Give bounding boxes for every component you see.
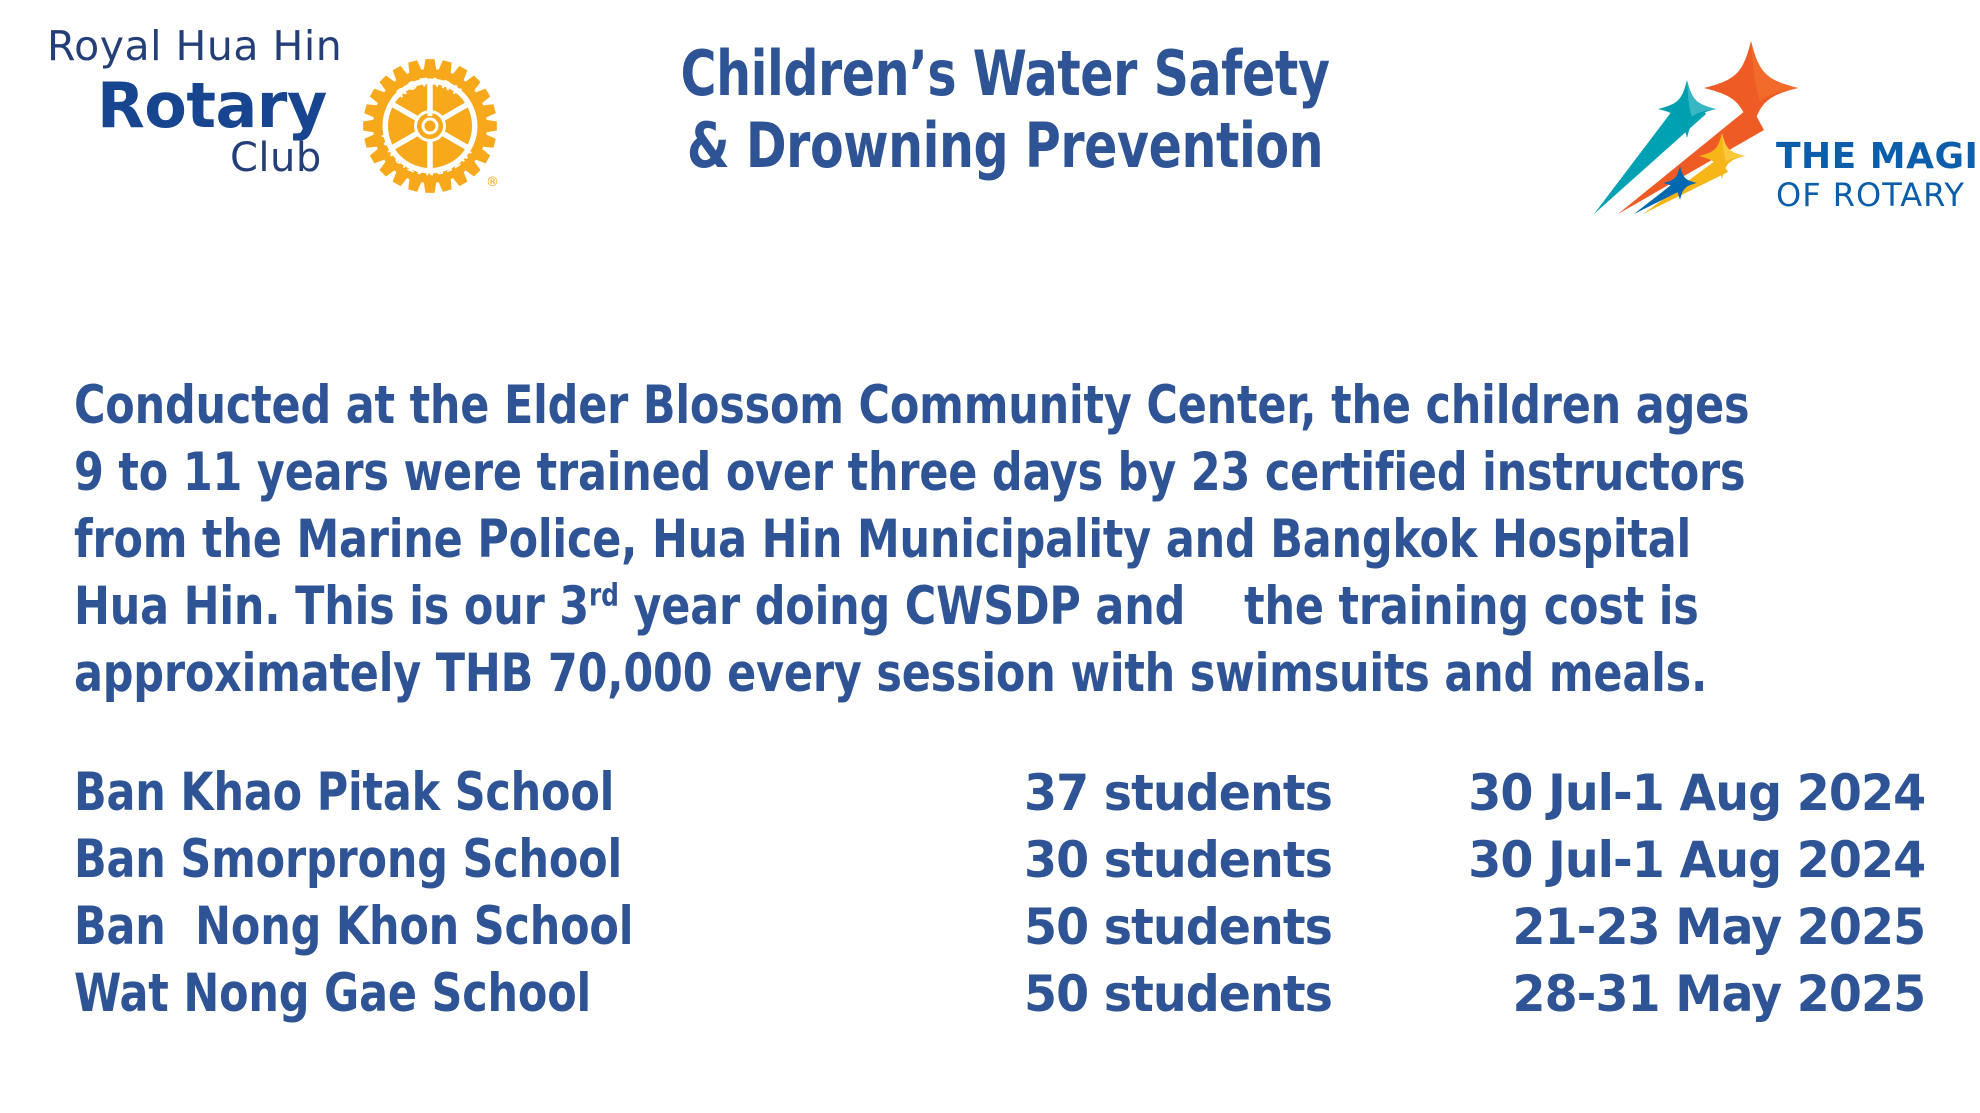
ordinal-suffix-rd: rd (589, 577, 619, 613)
session-dates: 30 Jul-1 Aug 2024 (1449, 831, 1929, 889)
school-sessions-table: Ban Khao Pitak School 37 students 30 Jul… (74, 762, 1929, 1030)
student-count: 50 students (1024, 965, 1404, 1023)
school-name: Wat Nong Gae School (74, 963, 929, 1024)
description-paragraph: Conducted at the Elder Blossom Community… (74, 372, 1934, 707)
student-count: 50 students (1024, 898, 1404, 956)
paragraph-line-4-a: Hua Hin. This is our 3 (74, 576, 589, 637)
paragraph-line-2: 9 to 11 years were trained over three da… (74, 439, 1748, 506)
table-row: Wat Nong Gae School 50 students 28-31 Ma… (74, 963, 1929, 1030)
slide-header: Royal Hua Hin Rotary Club (0, 0, 1980, 230)
page-title: Children’s Water Safety & Drowning Preve… (430, 38, 1580, 182)
magic-logo-line-2: OF ROTARY (1776, 176, 1965, 214)
school-name: Ban Smorprong School (74, 829, 929, 890)
title-line-2: & Drowning Prevention (499, 110, 1511, 182)
title-line-1: Children’s Water Safety (499, 38, 1511, 110)
session-dates: 21-23 May 2025 (1449, 898, 1929, 956)
club-logo-line-club: Club (230, 135, 322, 181)
table-row: Ban Nong Khon School 50 students 21-23 M… (74, 896, 1929, 963)
school-name: Ban Khao Pitak School (74, 762, 929, 823)
royal-hua-hin-rotary-club-logo: Royal Hua Hin Rotary Club (45, 22, 465, 182)
student-count: 37 students (1024, 764, 1404, 822)
session-dates: 30 Jul-1 Aug 2024 (1449, 764, 1929, 822)
student-count: 30 students (1024, 831, 1404, 889)
table-row: Ban Khao Pitak School 37 students 30 Jul… (74, 762, 1929, 829)
slide-canvas: Royal Hua Hin Rotary Club (0, 0, 1980, 1113)
magic-of-rotary-stars-icon: THE MAGIC OF ROTARY (1588, 18, 1978, 218)
school-name: Ban Nong Khon School (74, 896, 929, 957)
paragraph-line-5: approximately THB 70,000 every session w… (74, 640, 1748, 707)
club-logo-line-royal-hua-hin: Royal Hua Hin (47, 22, 342, 70)
paragraph-line-4-b: year doing CWSDP and the training cost i… (619, 576, 1699, 637)
session-dates: 28-31 May 2025 (1449, 965, 1929, 1023)
the-magic-of-rotary-logo: THE MAGIC OF ROTARY (1588, 18, 1978, 218)
table-row: Ban Smorprong School 30 students 30 Jul-… (74, 829, 1929, 896)
magic-logo-line-1: THE MAGIC (1776, 136, 1978, 177)
paragraph-line-4: Hua Hin. This is our 3rd year doing CWSD… (74, 573, 1748, 640)
paragraph-line-1: Conducted at the Elder Blossom Community… (74, 372, 1748, 439)
paragraph-line-3: from the Marine Police, Hua Hin Municipa… (74, 506, 1748, 573)
club-logo-line-rotary: Rotary (97, 69, 327, 142)
